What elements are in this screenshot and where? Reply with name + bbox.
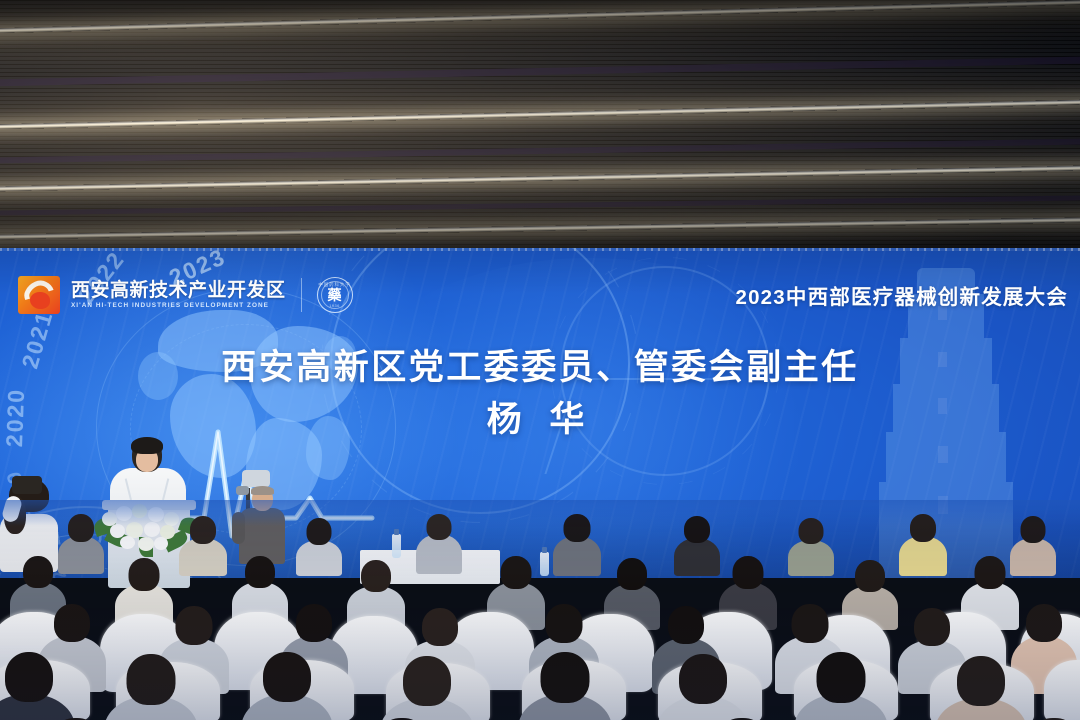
camera-icon (12, 476, 42, 494)
speaker-headline: 西安高新区党工委委员、管委会副主任 杨 华 (0, 346, 1080, 444)
ceiling-shading (0, 0, 1080, 262)
xian-hitech-logo-icon (18, 276, 60, 314)
logo-divider (301, 278, 302, 312)
university-seal-icon: 中国药科大学 藥 1936 (317, 277, 353, 313)
zone-logo-lockup: 西安高新技术产业开发区 XI'AN HI-TECH INDUSTRIES DEV… (18, 276, 353, 314)
speaker-title-line: 西安高新区党工委委员、管委会副主任 (0, 346, 1080, 391)
conference-title: 2023中西部医疗器械创新发展大会 (735, 280, 1068, 310)
video-camera-icon (242, 470, 270, 487)
logo-name-en: XI'AN HI-TECH INDUSTRIES DEVELOPMENT ZON… (71, 303, 286, 309)
conference-photo-scene: 2023 2022 2021 2020 2019 2018 西安高新技术 (0, 0, 1080, 720)
logo-name-cn: 西安高新技术产业开发区 (71, 281, 286, 300)
seal-year: 1936 (318, 303, 352, 308)
water-bottle (540, 552, 549, 576)
water-bottle (392, 534, 401, 558)
seal-character: 藥 (328, 288, 342, 302)
ceiling (0, 0, 1080, 262)
audience-seating (0, 500, 1080, 720)
